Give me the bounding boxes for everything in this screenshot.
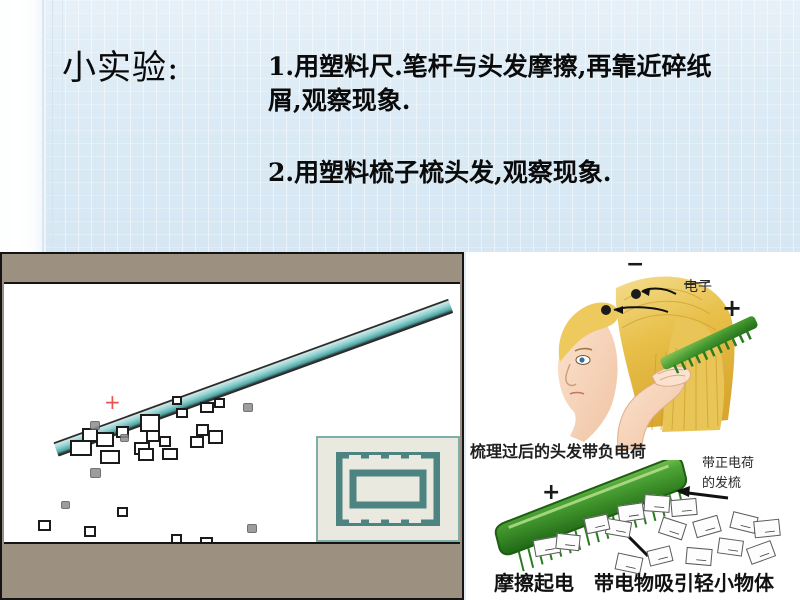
girl-combing-hair-illustration [466,252,800,452]
paper-bit [200,537,213,544]
paper-speck [243,403,253,412]
paper-flake: — [753,519,781,539]
paper-flake: — [670,498,697,517]
margin-rule-line-3 [62,0,63,252]
paper-bit [70,440,92,456]
paper-bit [100,450,120,464]
left-margin-strip [0,0,46,252]
paper-speck [120,434,129,442]
bottom-caption-attraction: 带电物吸引轻小物体 [594,567,774,596]
paper-bit [190,436,204,448]
paper-bit [146,430,160,442]
paper-bit [84,526,96,537]
slide-text-region: 小实验: 1.用塑料尺.笔杆与头发摩擦,再靠近碎纸屑,观察现象. 2.用塑料梳子… [0,0,800,252]
comb-charge-caption: 带正电荷 的发梳 [702,454,754,494]
minus-sign-hair: − [626,252,644,277]
paper-speck [90,468,101,478]
page-title: 小实验: [62,40,179,89]
presentation-slide: 小实验: 1.用塑料尺.笔杆与头发摩擦,再靠近碎纸屑,观察现象. 2.用塑料梳子… [0,0,800,600]
paper-bit [176,408,188,418]
paper-bit [162,448,178,460]
paper-flake: — [643,494,670,513]
paper-bit [159,436,171,447]
paper-flake: — [555,533,581,551]
margin-rule-line-2 [52,0,53,252]
paper-bit [96,432,114,447]
video-play-badge[interactable] [316,436,460,542]
paper-speck [61,501,70,509]
list-item-experiment-2: 2.用塑料梳子梳头发,观察现象. [268,156,738,190]
left-photo-ruler-experiment[interactable]: + [0,252,464,600]
list-item-experiment-1: 1.用塑料尺.笔杆与头发摩擦,再靠近碎纸屑,观察现象. [268,50,738,118]
comb-charge-caption-line-2: 的发梳 [702,474,754,494]
charge-plus-marker: + [104,392,121,412]
left-photo-stage: + [4,282,460,544]
paper-bit [214,398,225,408]
slide-image-band: + [0,252,800,600]
hair-charge-caption: 梳理过后的头发带负电荷 [470,438,646,462]
paper-bit [38,520,51,531]
plus-sign-comb: + [542,480,560,505]
electron-label: 电子 [684,276,712,296]
paper-bit [200,402,214,413]
paper-flake: — [717,537,744,556]
paper-bit [138,448,154,461]
experiment-list: 1.用塑料尺.笔杆与头发摩擦,再靠近碎纸屑,观察现象. 2.用塑料梳子梳头发,观… [268,50,738,189]
paper-speck [90,421,100,430]
film-strip-icon [336,452,440,526]
plus-sign-comb-head: + [722,294,742,322]
paper-bit [172,396,182,405]
paper-bit [117,507,128,517]
right-photo-comb-diagram[interactable]: − + 电子 梳理过后的头发带负电荷 [466,252,800,600]
comb-charge-caption-line-1: 带正电荷 [702,454,754,474]
paper-bit [171,534,182,544]
margin-rule-line-1 [42,0,44,252]
paper-flake: — [685,547,712,566]
paper-speck [247,524,257,533]
bottom-caption-friction: 摩擦起电 [494,567,574,596]
paper-bit [208,430,223,444]
